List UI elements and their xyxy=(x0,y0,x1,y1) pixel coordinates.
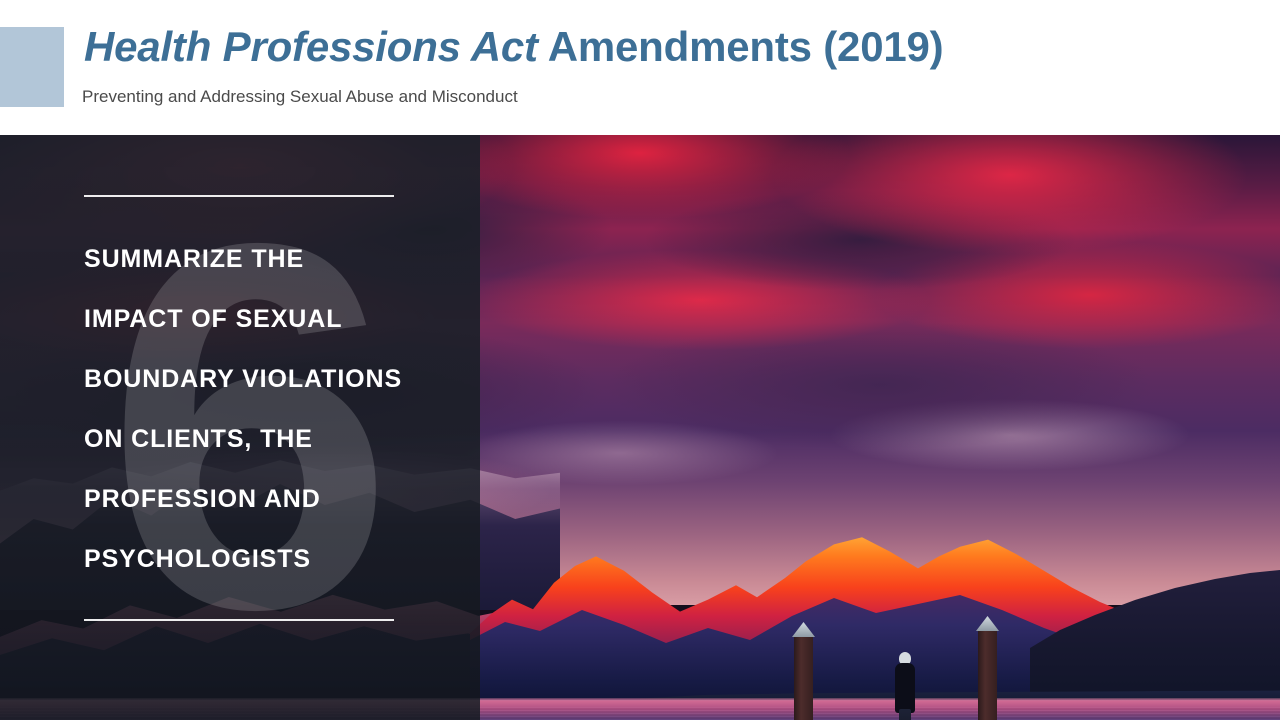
headline-text: SUMMARIZE THE IMPACT OF SEXUAL BOUNDARY … xyxy=(84,229,404,589)
slide: Health Professions Act Amendments (2019)… xyxy=(0,0,1280,720)
page-subtitle: Preventing and Addressing Sexual Abuse a… xyxy=(82,86,518,108)
person-figure xyxy=(893,652,917,720)
dock-piling-left xyxy=(794,635,813,720)
person-torso xyxy=(895,663,915,713)
person-legs xyxy=(899,709,911,720)
headline-rule-top xyxy=(84,195,394,197)
title-regular: Amendments (2019) xyxy=(538,23,944,70)
headline-block: SUMMARIZE THE IMPACT OF SEXUAL BOUNDARY … xyxy=(84,195,404,621)
dock-piling-right xyxy=(978,629,997,720)
title-emphasis: Health Professions Act xyxy=(84,23,538,70)
slide-body: 6 SUMMARIZE THE IMPACT OF SEXUAL BOUNDAR… xyxy=(0,135,1280,720)
slide-header: Health Professions Act Amendments (2019)… xyxy=(0,0,1280,135)
header-accent-block xyxy=(0,27,64,107)
page-title: Health Professions Act Amendments (2019) xyxy=(84,23,943,71)
headline-rule-bottom xyxy=(84,619,394,621)
